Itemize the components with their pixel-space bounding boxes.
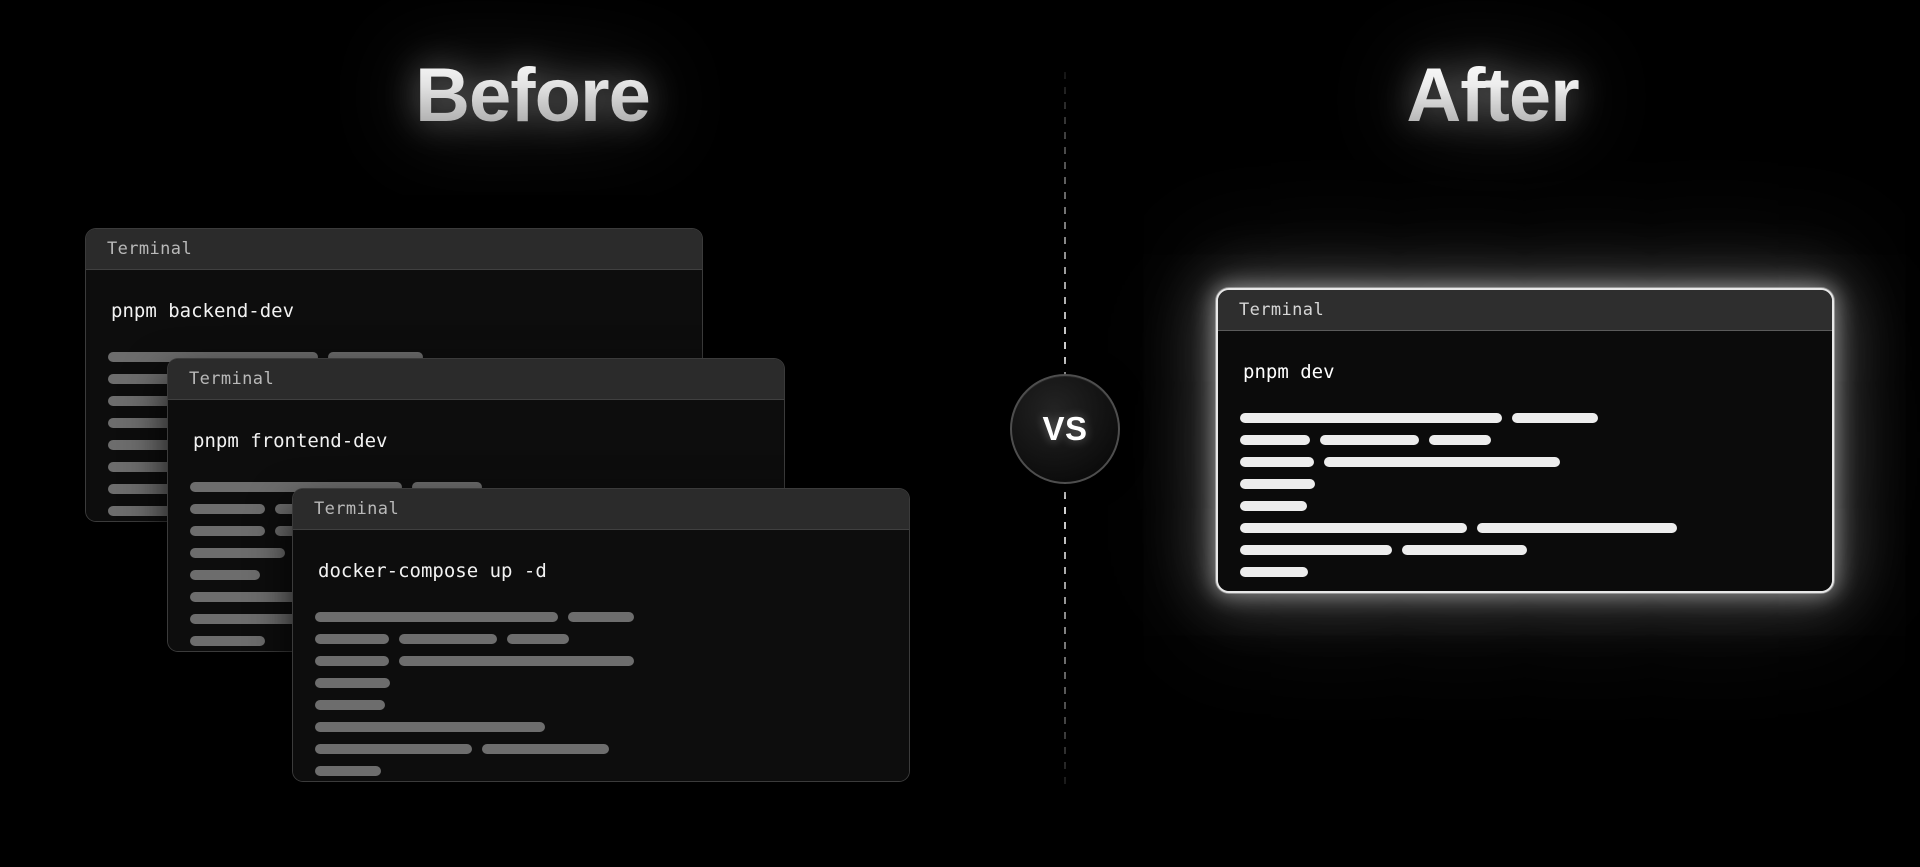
- terminal-command: pnpm dev: [1243, 361, 1810, 383]
- terminal-titlebar: Terminal: [168, 359, 784, 400]
- vs-badge-label: VS: [1042, 410, 1087, 448]
- output-bar: [315, 744, 472, 754]
- output-bar: [1240, 457, 1314, 467]
- output-line: [1240, 479, 1810, 489]
- output-bar: [507, 634, 569, 644]
- output-bar: [1402, 545, 1527, 555]
- output-bar: [315, 656, 389, 666]
- output-bar: [1240, 413, 1502, 423]
- terminal-title: Terminal: [107, 239, 192, 259]
- output-line: [1240, 545, 1810, 555]
- output-bar: [1477, 523, 1677, 533]
- output-line: [315, 744, 887, 754]
- output-line: [1240, 435, 1810, 445]
- terminal-output-placeholder: [315, 612, 887, 776]
- output-bar: [1240, 545, 1392, 555]
- comparison-stage: Before After VS Terminal pnpm backend-de…: [0, 0, 1920, 867]
- output-bar: [1240, 567, 1308, 577]
- output-bar: [190, 636, 265, 646]
- output-bar: [1240, 523, 1467, 533]
- output-bar: [482, 744, 609, 754]
- output-line: [1240, 457, 1810, 467]
- output-line: [315, 634, 887, 644]
- output-bar: [315, 700, 385, 710]
- output-bar: [190, 526, 265, 536]
- output-line: [1240, 413, 1810, 423]
- terminal-window-after[interactable]: Terminal pnpm dev: [1216, 288, 1834, 593]
- terminal-titlebar: Terminal: [293, 489, 909, 530]
- output-bar: [315, 678, 390, 688]
- output-bar: [315, 722, 545, 732]
- output-bar: [1240, 435, 1310, 445]
- output-bar: [568, 612, 634, 622]
- output-line: [315, 700, 887, 710]
- terminal-window-docker[interactable]: Terminal docker-compose up -d: [292, 488, 910, 782]
- output-bar: [190, 548, 285, 558]
- output-line: [315, 766, 887, 776]
- output-line: [1240, 567, 1810, 577]
- terminal-title: Terminal: [189, 369, 274, 389]
- terminal-title: Terminal: [1239, 300, 1324, 320]
- output-bar: [190, 504, 265, 514]
- output-line: [315, 656, 887, 666]
- terminal-command: pnpm frontend-dev: [193, 430, 762, 452]
- terminal-output-placeholder: [1240, 413, 1810, 577]
- page-title-after: After: [1065, 52, 1920, 139]
- output-bar: [1512, 413, 1598, 423]
- output-bar: [315, 634, 389, 644]
- output-line: [315, 612, 887, 622]
- terminal-command: docker-compose up -d: [318, 560, 887, 582]
- output-bar: [1240, 501, 1307, 511]
- output-bar: [1240, 479, 1315, 489]
- terminal-body: docker-compose up -d: [293, 530, 909, 781]
- output-line: [1240, 501, 1810, 511]
- output-bar: [399, 656, 634, 666]
- output-bar: [1429, 435, 1491, 445]
- output-bar: [1324, 457, 1560, 467]
- terminal-titlebar: Terminal: [86, 229, 702, 270]
- terminal-command: pnpm backend-dev: [111, 300, 680, 322]
- output-line: [1240, 523, 1810, 533]
- output-bar: [315, 612, 558, 622]
- output-line: [315, 722, 887, 732]
- terminal-body: pnpm dev: [1218, 331, 1832, 591]
- output-line: [315, 678, 887, 688]
- page-title-before: Before: [0, 52, 1065, 139]
- output-bar: [399, 634, 497, 644]
- output-bar: [190, 570, 260, 580]
- output-bar: [1320, 435, 1419, 445]
- terminal-titlebar: Terminal: [1218, 290, 1832, 331]
- terminal-title: Terminal: [314, 499, 399, 519]
- output-bar: [315, 766, 381, 776]
- vs-badge: VS: [1010, 374, 1120, 484]
